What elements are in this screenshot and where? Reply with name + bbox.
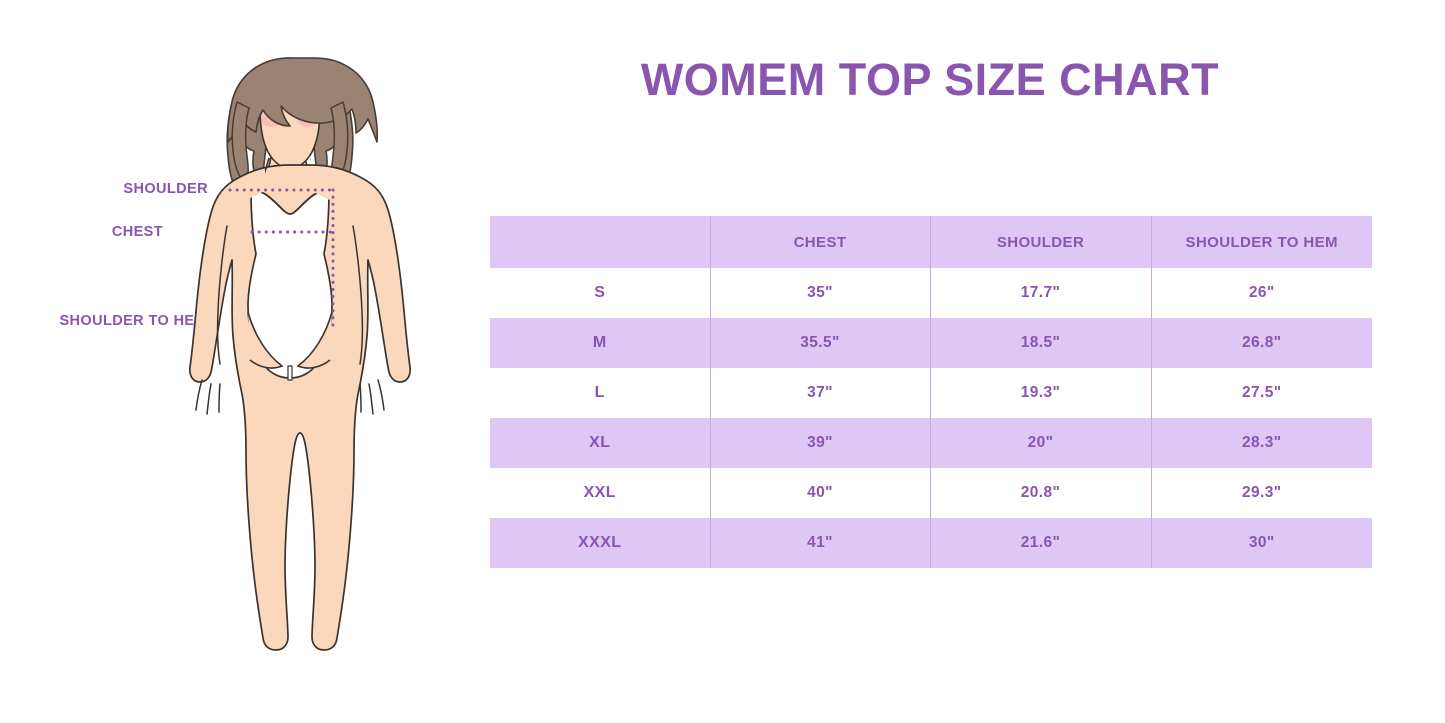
cell-shoulder-to-hem: 26.8" bbox=[1151, 318, 1372, 368]
cell-size: XXXL bbox=[490, 518, 710, 568]
table-row: S 35" 17.7" 26" bbox=[490, 268, 1372, 318]
female-body-svg bbox=[120, 40, 460, 690]
cell-shoulder-to-hem: 28.3" bbox=[1151, 418, 1372, 468]
body-figure-illustration bbox=[120, 40, 460, 690]
table-row: XXXL 41" 21.6" 30" bbox=[490, 518, 1372, 568]
size-chart-page: WOMEM TOP SIZE CHART SHOULDER CHEST SHOU… bbox=[0, 0, 1445, 723]
header-shoulder: SHOULDER bbox=[930, 216, 1151, 268]
cell-shoulder-to-hem: 26" bbox=[1151, 268, 1372, 318]
cell-chest: 35" bbox=[710, 268, 930, 318]
cell-chest: 41" bbox=[710, 518, 930, 568]
cell-shoulder-to-hem: 30" bbox=[1151, 518, 1372, 568]
cell-shoulder-to-hem: 27.5" bbox=[1151, 368, 1372, 418]
cell-chest: 35.5" bbox=[710, 318, 930, 368]
header-shoulder-to-hem: SHOULDER TO HEM bbox=[1151, 216, 1372, 268]
hand-right bbox=[360, 380, 384, 414]
hand-left bbox=[196, 380, 220, 414]
table-row: M 35.5" 18.5" 26.8" bbox=[490, 318, 1372, 368]
size-chart-table: CHEST SHOULDER SHOULDER TO HEM S 35" 17.… bbox=[490, 216, 1372, 568]
cell-shoulder: 20" bbox=[930, 418, 1151, 468]
cell-size: M bbox=[490, 318, 710, 368]
cell-shoulder: 21.6" bbox=[930, 518, 1151, 568]
table-row: XL 39" 20" 28.3" bbox=[490, 418, 1372, 468]
table-header-row: CHEST SHOULDER SHOULDER TO HEM bbox=[490, 216, 1372, 268]
header-size bbox=[490, 216, 710, 268]
cell-size: S bbox=[490, 268, 710, 318]
page-title: WOMEM TOP SIZE CHART bbox=[488, 54, 1372, 106]
cell-chest: 40" bbox=[710, 468, 930, 518]
cell-shoulder-to-hem: 29.3" bbox=[1151, 468, 1372, 518]
table-row: XXL 40" 20.8" 29.3" bbox=[490, 468, 1372, 518]
cell-shoulder: 20.8" bbox=[930, 468, 1151, 518]
table-row: L 37" 19.3" 27.5" bbox=[490, 368, 1372, 418]
cell-size: XL bbox=[490, 418, 710, 468]
cell-size: L bbox=[490, 368, 710, 418]
cell-size: XXL bbox=[490, 468, 710, 518]
cell-shoulder: 17.7" bbox=[930, 268, 1151, 318]
cell-shoulder: 19.3" bbox=[930, 368, 1151, 418]
cell-chest: 37" bbox=[710, 368, 930, 418]
cell-chest: 39" bbox=[710, 418, 930, 468]
cell-shoulder: 18.5" bbox=[930, 318, 1151, 368]
header-chest: CHEST bbox=[710, 216, 930, 268]
